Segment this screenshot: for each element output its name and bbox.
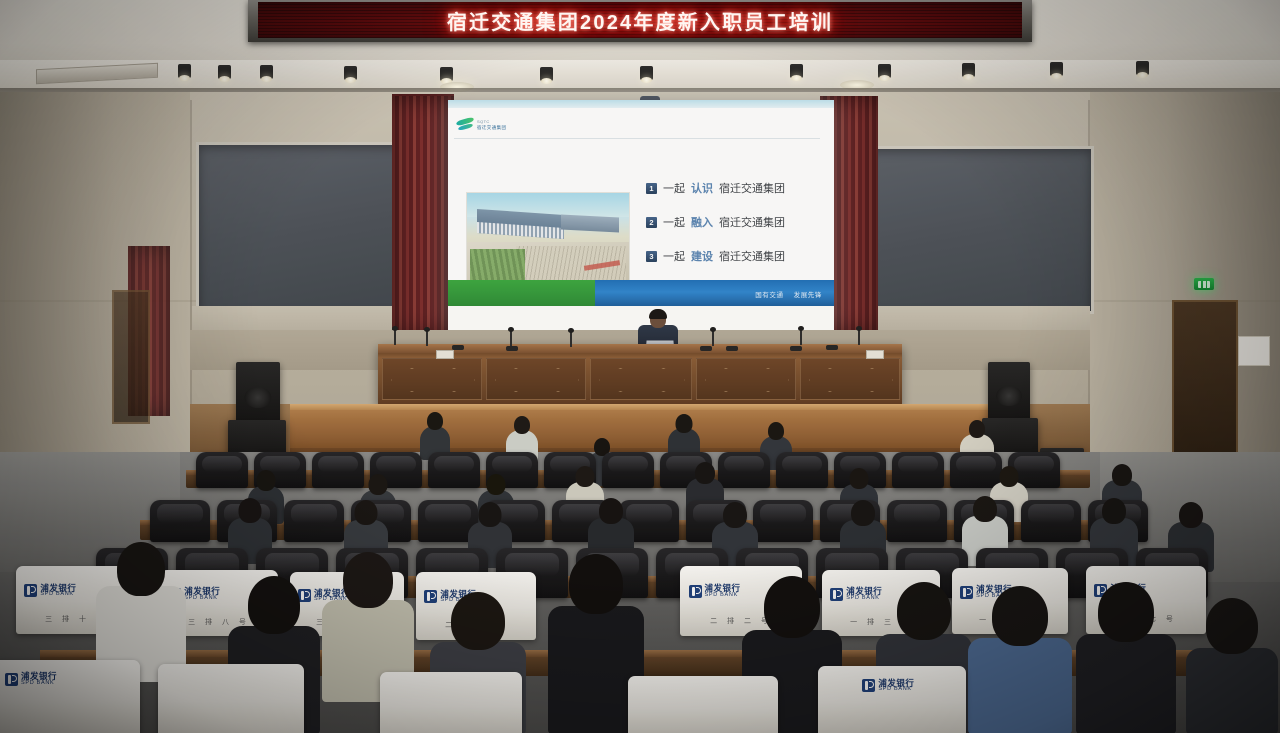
slide-bullet-2: 2 一起 融入 宿迁交通集团	[646, 214, 818, 230]
slide-bullet-3: 3 一起 建设 宿迁交通集团	[646, 248, 818, 264]
ceiling-spotlight-icon	[1136, 61, 1149, 75]
stage-edge	[190, 404, 1090, 410]
presenter-hair	[649, 309, 667, 319]
photo-terminal-building	[477, 209, 564, 240]
ceiling-spotlight-icon	[218, 65, 231, 79]
head-table	[378, 344, 902, 406]
sponsored-seat-cover-front[interactable]	[158, 664, 304, 733]
microphone-icon	[712, 330, 714, 346]
sponsored-seat-cover-front[interactable]: 浦发银行 SPD BANK	[0, 660, 140, 733]
ceiling-spotlight-icon	[344, 66, 357, 80]
presentation-slide: SQTC 宿迁交通集团 1 一起 认识 宿迁交通集团	[448, 108, 834, 306]
sponsor-name-en: SPD BANK	[184, 596, 220, 602]
bullet-keyword: 融入	[691, 214, 713, 230]
acoustic-panel-left	[196, 142, 418, 314]
microphone-icon	[800, 329, 802, 345]
spd-bank-logo-icon	[5, 673, 18, 686]
projection-screen: SQTC 宿迁交通集团 1 一起 认识 宿迁交通集团	[448, 100, 834, 332]
table-front-panel	[486, 358, 586, 400]
table-nameplate	[866, 350, 884, 359]
emergency-exit-icon	[1194, 278, 1214, 290]
microphone-icon	[510, 330, 512, 346]
spd-bank-logo-icon	[862, 679, 875, 692]
table-front-panel	[382, 358, 482, 400]
table-front-panel	[590, 358, 692, 400]
microphone-base	[506, 346, 518, 351]
bullet-keyword: 认识	[691, 180, 713, 196]
table-front-panel	[800, 358, 900, 400]
microphone-icon	[394, 329, 396, 345]
table-front-panel	[696, 358, 796, 400]
ceiling-spotlight-icon	[790, 64, 803, 78]
bullet-prefix: 一起	[663, 248, 685, 264]
ceiling-spotlight-icon	[962, 63, 975, 77]
slide-footer-bar: 国有交通 发展先锋	[448, 280, 834, 306]
attendee-foreground	[1076, 582, 1176, 733]
photo-secondary-building	[561, 214, 619, 232]
auditorium-seat[interactable]	[718, 452, 770, 488]
auditorium-photo: 宿迁交通集团2024年度新入职员工培训 SQTC 宿迁交通集团	[0, 0, 1280, 733]
led-banner: 宿迁交通集团2024年度新入职员工培训	[258, 2, 1022, 38]
ceiling-spotlight-icon	[1050, 62, 1063, 76]
photo-greenery	[470, 249, 525, 281]
sponsor-name-en: SPD BANK	[21, 681, 57, 687]
side-door-left[interactable]	[112, 290, 150, 424]
auditorium-seat[interactable]	[428, 452, 480, 488]
slide-photo	[466, 192, 630, 288]
company-logo-icon	[456, 117, 474, 132]
slide-divider	[454, 138, 820, 139]
microphone-base	[826, 345, 838, 350]
bullet-prefix: 一起	[663, 180, 685, 196]
attendee-foreground	[968, 586, 1072, 733]
ceiling-spotlight-icon	[878, 64, 891, 78]
sponsor-name-en: SPD BANK	[878, 687, 914, 693]
banner-text: 宿迁交通集团2024年度新入职员工培训	[447, 6, 833, 35]
auditorium-seat[interactable]	[892, 452, 944, 488]
auditorium-seat[interactable]	[150, 500, 210, 542]
side-door[interactable]	[1172, 300, 1238, 474]
auditorium-seat[interactable]	[602, 452, 654, 488]
slide-logo: SQTC 宿迁交通集团	[456, 112, 534, 136]
stage-front-face	[190, 404, 1090, 454]
acoustic-panel-right	[866, 146, 1094, 314]
screen-top-band	[448, 100, 834, 108]
auditorium-seat[interactable]	[312, 452, 364, 488]
microphone-icon	[858, 329, 860, 345]
auditorium-seat[interactable]	[196, 452, 248, 488]
microphone-base	[726, 346, 738, 351]
bullet-suffix: 宿迁交通集团	[719, 248, 785, 264]
slide-logo-cn: 宿迁交通集团	[477, 125, 506, 130]
slide-footer-right-tag: 发展先锋	[794, 289, 822, 299]
sponsor-name-en: SPD BANK	[40, 592, 76, 598]
sponsored-seat-cover-front[interactable]: 浦发银行 SPD BANK	[818, 666, 966, 733]
slide-bullet-1: 1 一起 认识 宿迁交通集团	[646, 180, 818, 196]
bullet-keyword: 建设	[691, 248, 713, 264]
spd-bank-logo-icon	[689, 585, 702, 598]
wall-notice-sign	[1238, 336, 1270, 366]
auditorium-seat[interactable]	[887, 500, 947, 542]
bullet-suffix: 宿迁交通集团	[719, 214, 785, 230]
seat-row-1	[196, 452, 1060, 488]
ceiling-spotlight-icon	[440, 67, 453, 81]
table-nameplate	[436, 350, 454, 359]
auditorium-seat[interactable]	[776, 452, 828, 488]
microphone-icon	[570, 331, 572, 347]
sponsor-name-en: SPD BANK	[705, 593, 741, 599]
stage-curtain-left	[392, 96, 454, 336]
spd-bank-logo-icon	[24, 584, 37, 597]
sponsored-seat-cover-front[interactable]	[628, 676, 778, 733]
bullet-suffix: 宿迁交通集团	[719, 180, 785, 196]
bullet-number-badge: 3	[646, 251, 657, 262]
bullet-prefix: 一起	[663, 214, 685, 230]
slide-footer-accent	[448, 280, 595, 306]
ceiling-spotlight-icon	[640, 66, 653, 80]
pa-speaker-right-top	[988, 362, 1030, 422]
slide-footer-left-tag: 国有交通	[755, 289, 783, 299]
microphone-icon	[426, 330, 428, 346]
bullet-number-badge: 2	[646, 217, 657, 228]
attendee-foreground	[1186, 598, 1278, 733]
pa-speaker-left-top	[236, 362, 280, 424]
auditorium-seat[interactable]	[1021, 500, 1081, 542]
auditorium-seat[interactable]	[284, 500, 344, 542]
microphone-base	[700, 346, 712, 351]
bullet-number-badge: 1	[646, 183, 657, 194]
microphone-base	[790, 346, 802, 351]
sponsored-seat-cover-front[interactable]	[380, 672, 522, 733]
slide-bullet-list: 1 一起 认识 宿迁交通集团 2 一起 融入 宿迁交通集团 3 一起 建设 宿迁…	[646, 180, 818, 264]
slide-logo-en: SQTC	[477, 119, 506, 124]
ceiling-spotlight-icon	[178, 64, 191, 78]
auditorium-seat[interactable]	[753, 500, 813, 542]
ceiling-spotlight-icon	[260, 65, 273, 79]
ceiling-spotlight-icon	[540, 67, 553, 81]
